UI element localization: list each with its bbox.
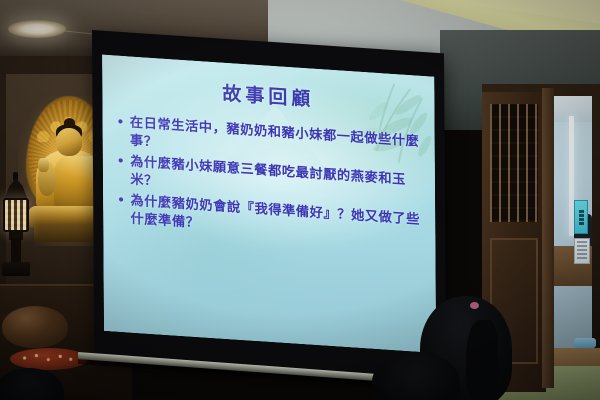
screenshot-scene: 故事回顧 • 在日常生活中，豬奶奶和豬小妹都一起做些什麼事？ • 為什麼豬小妹願… — [0, 0, 600, 400]
bullet-dot-icon: • — [117, 153, 126, 189]
hair-clip — [470, 302, 479, 309]
slide-bullet-list: • 在日常生活中，豬奶奶和豬小妹都一起做些什麼事？ • 為什麼豬小妹願意三餐都吃… — [117, 114, 424, 252]
bullet-dot-icon: • — [117, 114, 126, 150]
audience-ponytail — [466, 320, 498, 400]
projected-slide: 故事回顧 • 在日常生活中，豬奶奶和豬小妹都一起做些什麼事？ • 為什麼豬小妹願… — [102, 55, 436, 353]
bullet-dot-icon: • — [117, 192, 126, 228]
projection-screen-frame: 故事回顧 • 在日常生活中，豬奶奶和豬小妹都一起做些什麼事？ • 為什麼豬小妹願… — [92, 30, 446, 384]
